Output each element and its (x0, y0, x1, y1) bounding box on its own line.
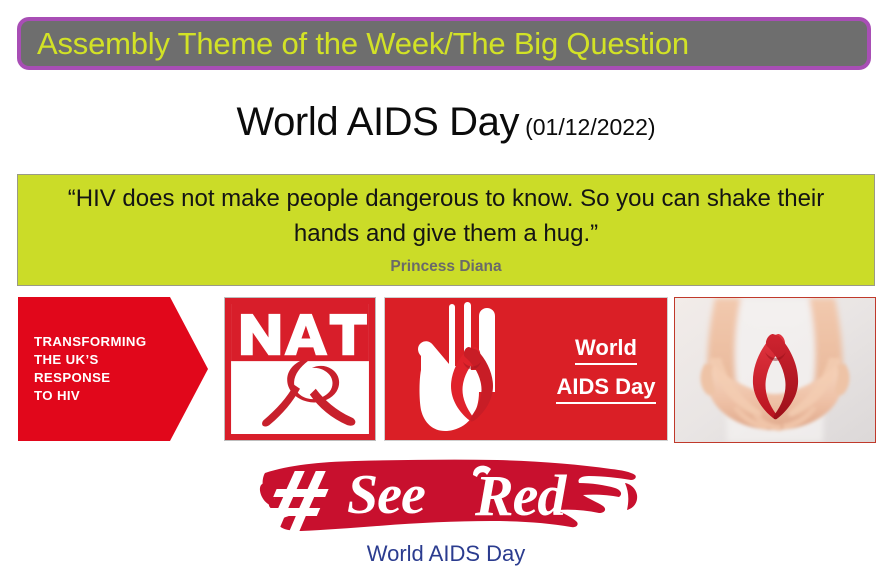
assembly-theme-banner: Assembly Theme of the Week/The Big Quest… (17, 17, 871, 70)
transforming-hiv-logo: TRANSFORMING THE UK’S RESPONSE TO HIV (18, 297, 208, 441)
world-aids-day-logo: World AIDS Day (384, 297, 668, 441)
nat-logo (224, 297, 376, 441)
page-title: World AIDS Day(01/12/2022) (0, 100, 892, 145)
hand-with-ribbon-icon (391, 300, 541, 440)
hands-holding-ribbon-photo (674, 297, 876, 443)
nat-logo-graphic (231, 304, 369, 434)
page-title-date: (01/12/2022) (525, 114, 655, 140)
seered-caption: World AIDS Day (0, 541, 892, 567)
world-aids-day-wordmark: World AIDS Day (545, 298, 667, 441)
wad-line-2: AIDS Day (556, 375, 655, 404)
transforming-hiv-tagline: TRANSFORMING THE UK’S RESPONSE TO HIV (18, 333, 147, 406)
quote-box: “HIV does not make people dangerous to k… (17, 174, 875, 286)
page-title-main: World AIDS Day (236, 100, 519, 144)
svg-text:See: See (347, 464, 425, 526)
wad-line-1: World (575, 336, 637, 365)
quote-text: “HIV does not make people dangerous to k… (36, 182, 856, 250)
banner-title: Assembly Theme of the Week/The Big Quest… (37, 28, 689, 59)
logo-strip: TRANSFORMING THE UK’S RESPONSE TO HIV (0, 297, 892, 445)
seered-logo: See Red (259, 455, 639, 540)
quote-author: Princess Diana (390, 258, 501, 276)
